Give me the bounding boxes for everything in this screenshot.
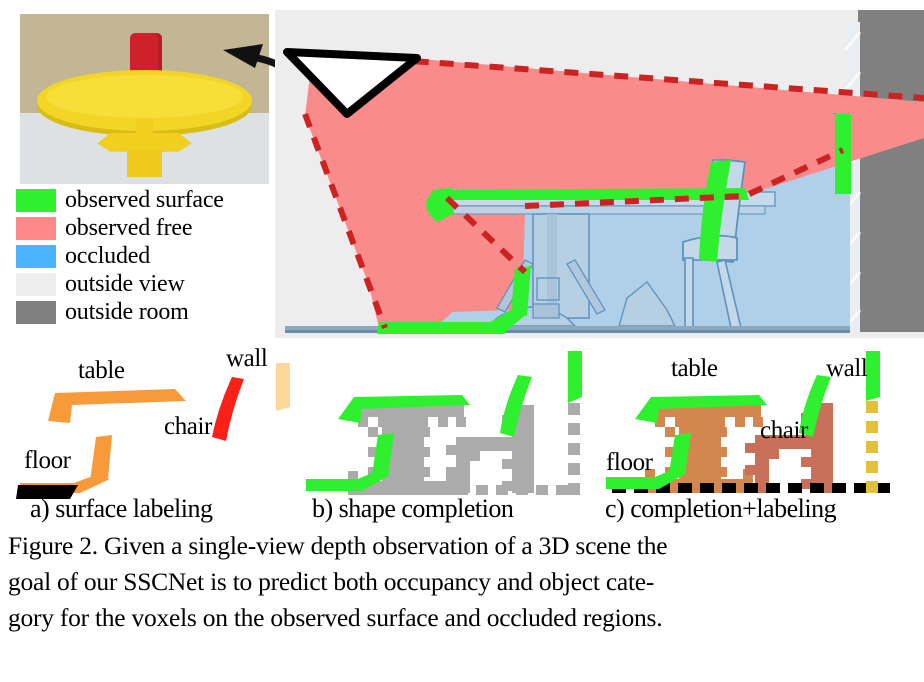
panel-a-label-floor: floor <box>24 447 71 475</box>
subcaption-c: c) completion+labeling <box>605 494 836 524</box>
panel-a-label-wall: wall <box>226 345 267 373</box>
legend-item-outside-view: outside view <box>16 270 276 298</box>
subcaption-a: a) surface labeling <box>30 494 213 524</box>
figure-2-container: observed surface observed free occluded … <box>0 0 924 682</box>
figure-caption-line-2: goal of our SSCNet is to predict both oc… <box>8 564 920 600</box>
inset-table-foot <box>97 133 192 152</box>
outside-room-region <box>858 10 924 332</box>
single-view-depth-observation-panel <box>275 10 924 338</box>
legend-label-outside-view: outside view <box>65 272 185 296</box>
figure-caption-line-1: Figure 2. Given a single-view depth obse… <box>8 528 920 564</box>
figure-caption-line-3: gory for the voxels on the observed surf… <box>8 600 920 636</box>
voxel-category-legend: observed surface observed free occluded … <box>16 186 276 326</box>
legend-swatch-outside-room <box>16 301 56 324</box>
legend-item-observed-free: observed free <box>16 214 276 242</box>
panel-b-wall-voxels <box>568 403 580 495</box>
panel-c-label-floor: floor <box>606 449 653 477</box>
top-row: observed surface observed free occluded … <box>0 0 924 345</box>
inset-table-foot-stem <box>127 150 162 177</box>
legend-label-outside-room: outside room <box>65 300 189 324</box>
panel-c-label-table: table <box>671 355 718 383</box>
legend-swatch-outside-view <box>16 273 56 296</box>
panel-c-label-chair: chair <box>760 417 808 445</box>
panel-c-wall-voxels <box>866 401 878 493</box>
panel-a-label-chair: chair <box>164 413 212 441</box>
legend-label-observed-surface: observed surface <box>65 188 224 212</box>
legend-item-occluded: occluded <box>16 242 276 270</box>
figure-caption: Figure 2. Given a single-view depth obse… <box>8 528 920 636</box>
legend-label-observed-free: observed free <box>65 216 192 240</box>
legend-item-outside-room: outside room <box>16 298 276 326</box>
panel-a-wall-surface <box>276 363 290 411</box>
subcaption-b: b) shape completion <box>312 494 513 524</box>
legend-swatch-observed-free <box>16 217 56 240</box>
panel-c-label-wall: wall <box>826 355 867 383</box>
legend-swatch-occluded <box>16 245 56 268</box>
legend-label-occluded: occluded <box>65 244 150 268</box>
legend-swatch-observed-surface <box>16 189 56 212</box>
legend-item-observed-surface: observed surface <box>16 186 276 214</box>
panel-a-floor-riser <box>90 435 112 481</box>
panel-subcaptions: a) surface labeling b) shape completion … <box>0 494 924 528</box>
panel-a-label-table: table <box>78 357 125 385</box>
panel-a-chair-surface <box>212 377 244 441</box>
